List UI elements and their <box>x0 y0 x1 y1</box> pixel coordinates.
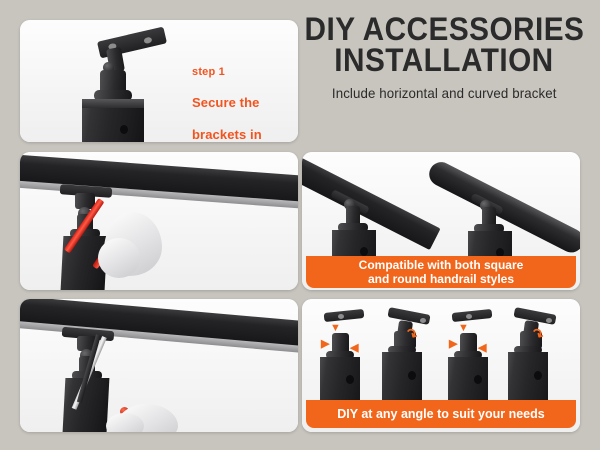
step-1-main-line1: Secure the <box>192 95 298 110</box>
step-1-main-line2: brackets in place <box>192 127 298 142</box>
unit1-post-hole <box>346 375 354 384</box>
unit4-plate-hole <box>546 318 552 323</box>
unit2-post-hole <box>408 371 416 380</box>
page-title-line2: INSTALLATION <box>334 45 553 76</box>
unit3-plate-hole <box>466 314 472 319</box>
unit1-arrow-left: ▶ <box>321 339 329 350</box>
header: DIY ACCESSORIES INSTALLATION Include hor… <box>300 14 588 142</box>
gloved-thumb <box>98 238 140 278</box>
unit1-plate-hole <box>338 314 344 319</box>
page-subtitle: Include horizontal and curved bracket <box>332 85 557 101</box>
gloved-fingers <box>106 413 144 432</box>
unit4-post-hole <box>534 371 542 380</box>
left-post-hole <box>360 247 368 256</box>
unit3-post-hole <box>474 375 482 384</box>
panel-step-3: Secure with self-tapping screws step 3 <box>20 299 298 432</box>
banner-any-angle-text: DIY at any angle to suit your needs <box>337 407 544 421</box>
step-1-label: step 1 <box>192 66 298 78</box>
unit3-arrow-left: ▶ <box>449 339 457 350</box>
poster-canvas: DIY ACCESSORIES INSTALLATION Include hor… <box>0 0 600 450</box>
banner-compatible-line2: and round handrail styles <box>359 272 524 286</box>
post-top-face <box>82 99 144 108</box>
plate-hole-right <box>143 37 152 45</box>
banner-compatible-line1: Compatible with both square <box>359 258 524 272</box>
step-1-text-block: step 1 Secure the brackets in place <box>192 66 298 142</box>
banner-any-angle: DIY at any angle to suit your needs <box>306 400 576 428</box>
page-title-line1: DIY ACCESSORIES <box>304 14 584 45</box>
post-screw-hole <box>120 125 128 134</box>
panel-step-1: step 1 Secure the brackets in place <box>20 20 298 142</box>
unit2-plate-hole <box>420 318 426 323</box>
banner-compatible: Compatible with both square and round ha… <box>306 256 576 288</box>
panel-step-2: step 2 Mark and drill holes (adjust the … <box>20 152 298 290</box>
